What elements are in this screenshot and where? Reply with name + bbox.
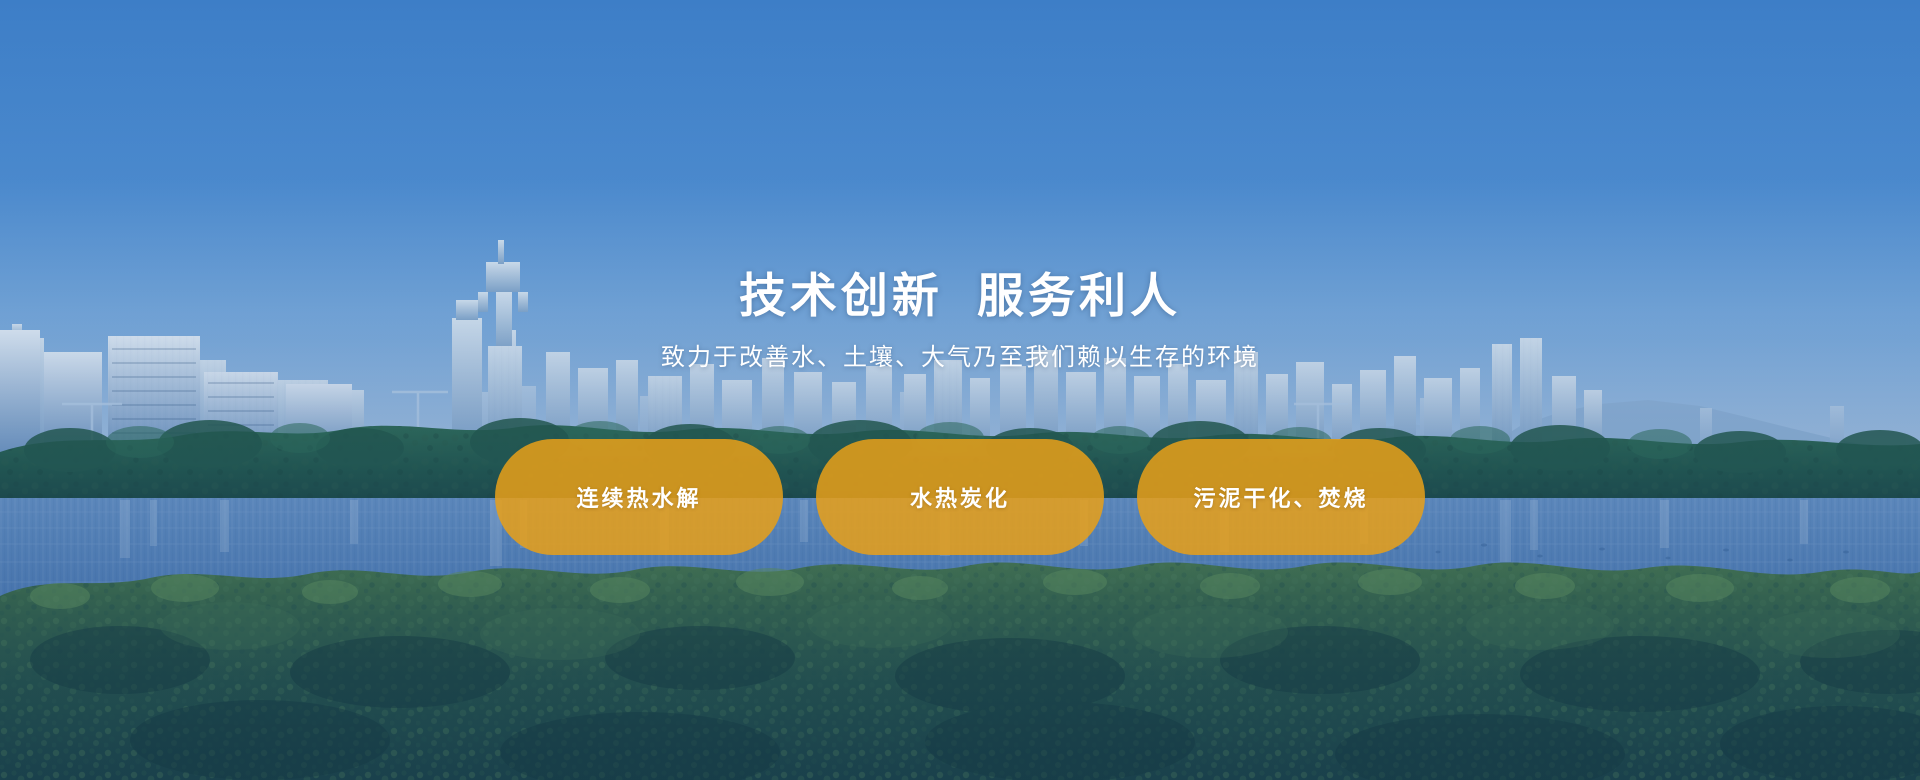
cta-button-sludge-drying-incineration[interactable]: 污泥干化、焚烧: [1137, 439, 1425, 555]
cta-button-continuous-thermal-hydrolysis[interactable]: 连续热水解: [495, 439, 783, 555]
hero-banner: 技术创新 服务利人 致力于改善水、土壤、大气乃至我们赖以生存的环境 连续热水解 …: [0, 0, 1920, 780]
page-title: 技术创新 服务利人: [739, 272, 1181, 319]
hero-content: 技术创新 服务利人 致力于改善水、土壤、大气乃至我们赖以生存的环境 连续热水解 …: [0, 0, 1920, 780]
cta-button-row: 连续热水解 水热炭化 污泥干化、焚烧: [495, 439, 1425, 555]
hero-subtitle: 致力于改善水、土壤、大气乃至我们赖以生存的环境: [661, 345, 1259, 371]
cta-button-hydrothermal-carbonization[interactable]: 水热炭化: [816, 439, 1104, 555]
